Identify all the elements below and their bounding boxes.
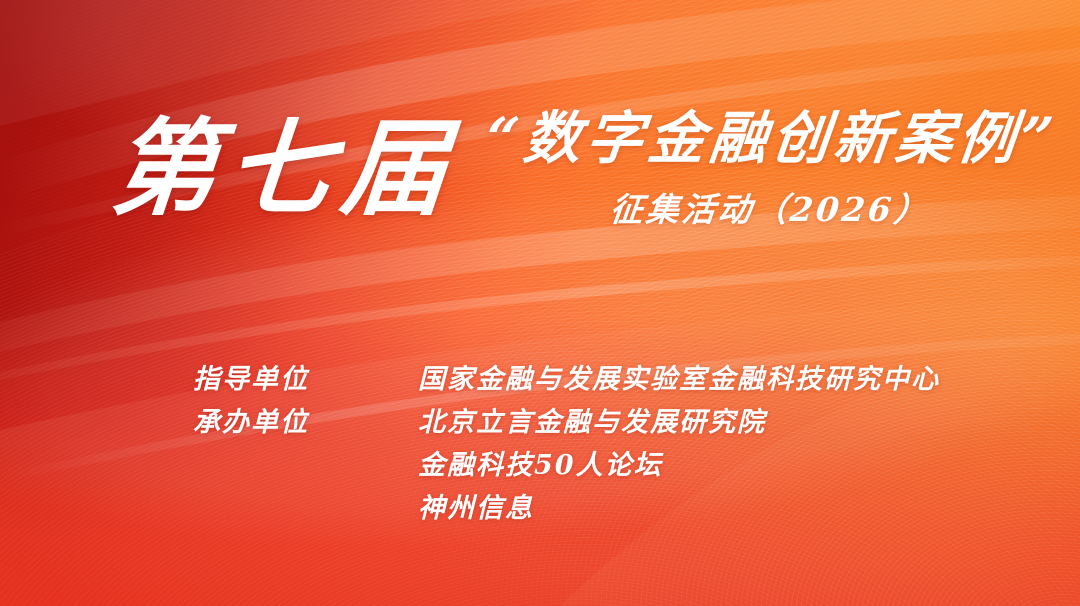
credit-value-guidance-1: 国家金融与发展实验室金融科技研究中心 [418,358,940,401]
credit-value-organizer-1: 北京立言金融与发展研究院 [418,401,940,444]
poster-content: 第七届 “数字金融创新案例” 征集活动（2026） 指导单位 国家金融与发展实验… [0,0,1080,606]
page-title-theme: “数字金融创新案例” [483,108,1061,171]
page-title-edition: 第七届 [107,110,462,228]
headline-block: 第七届 “数字金融创新案例” 征集活动（2026） [0,104,1080,254]
credit-label-guidance: 指导单位 [193,358,418,401]
credits-block: 指导单位 国家金融与发展实验室金融科技研究中心 承办单位 北京立言金融与发展研究… [193,358,940,530]
credit-row-organizer: 承办单位 北京立言金融与发展研究院 金融科技50人论坛 神州信息 [193,401,940,530]
credit-value-organizer-3: 神州信息 [418,487,940,530]
credit-label-organizer: 承办单位 [193,401,418,444]
credit-value-organizer-2: 金融科技50人论坛 [418,444,940,487]
credit-values-guidance: 国家金融与发展实验室金融科技研究中心 [418,358,940,401]
poster-canvas: 第七届 “数字金融创新案例” 征集活动（2026） 指导单位 国家金融与发展实验… [0,0,1080,606]
credit-values-organizer: 北京立言金融与发展研究院 金融科技50人论坛 神州信息 [418,401,940,530]
page-subtitle-campaign: 征集活动（2026） [608,192,932,228]
credit-row-guidance: 指导单位 国家金融与发展实验室金融科技研究中心 [193,358,940,401]
